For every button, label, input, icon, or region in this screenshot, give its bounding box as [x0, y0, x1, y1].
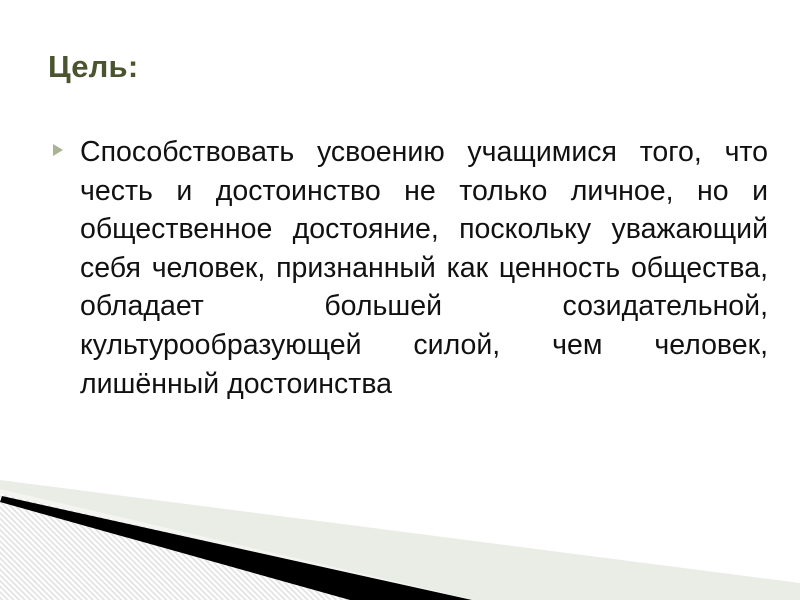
list-item: Способствовать усвоению учащимися того, …: [52, 133, 768, 403]
body-content: Способствовать усвоению учащимися того, …: [52, 133, 768, 403]
corner-graphic-svg: [0, 480, 800, 600]
bullet-paragraph-text: Способствовать усвоению учащимися того, …: [80, 133, 768, 403]
thin-highlight-line: [0, 488, 477, 600]
page-title: Цель:: [48, 48, 748, 86]
black-wedge: [0, 496, 472, 600]
bottom-left-diagonal-corner-graphic: [0, 480, 800, 600]
triangle-right-bullet-icon: [53, 144, 63, 156]
hatched-wedge: [0, 480, 800, 600]
light-band: [0, 480, 800, 600]
presentation-slide: Цель: Способствовать усвоению учащимися …: [0, 0, 800, 600]
